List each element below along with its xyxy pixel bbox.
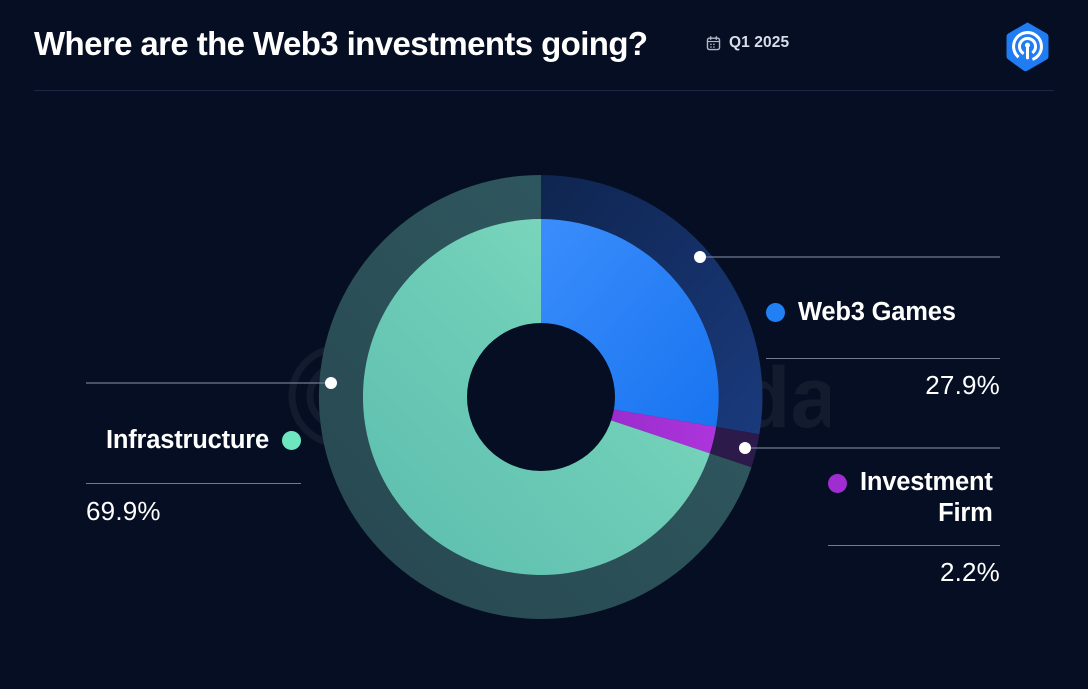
dappradar-logo-icon [1002,21,1053,72]
callout-web3-games-label: Web3 Games [798,298,956,327]
swatch-infrastructure-icon [282,431,301,450]
callout-investment-firm-label-line2: Firm [938,499,992,527]
callout-investment-firm-rule [828,545,1000,546]
callout-infrastructure-head: Infrastructure [86,426,301,455]
callout-investment-firm-label-line1: Investment [860,468,993,496]
page-title: Where are the Web3 investments going? [34,25,648,63]
header: Where are the Web3 investments going? Q1… [0,0,1088,91]
connector-web3-games [694,251,1000,263]
donut-main-ring [363,219,719,575]
callout-web3-games-head: Web3 Games [766,298,1000,327]
swatch-investment-firm-icon [828,474,847,493]
callout-web3-games-rule [766,358,1000,359]
calendar-icon [705,35,722,52]
donut-hole [467,323,615,471]
connector-infrastructure [86,377,337,389]
period-label: Q1 2025 [729,34,789,52]
callout-investment-firm-head: Investment Firm [828,467,1000,529]
callout-investment-firm[interactable]: Investment Firm 2.2% [828,467,1000,588]
callout-investment-firm-value: 2.2% [828,557,1000,588]
swatch-web3-games-icon [766,303,785,322]
connector-investment-firm [739,442,1000,454]
callout-infrastructure[interactable]: Infrastructure 69.9% [86,426,301,527]
callout-web3-games[interactable]: Web3 Games 27.9% [766,298,1000,401]
chart-area: DappRadar [0,91,1088,689]
period-group: Q1 2025 [705,34,789,52]
callout-infrastructure-value: 69.9% [86,496,301,527]
callout-investment-firm-label: Investment Firm [860,467,993,529]
callout-web3-games-value: 27.9% [766,370,1000,401]
callout-infrastructure-label: Infrastructure [106,426,269,455]
callout-infrastructure-rule [86,483,301,484]
